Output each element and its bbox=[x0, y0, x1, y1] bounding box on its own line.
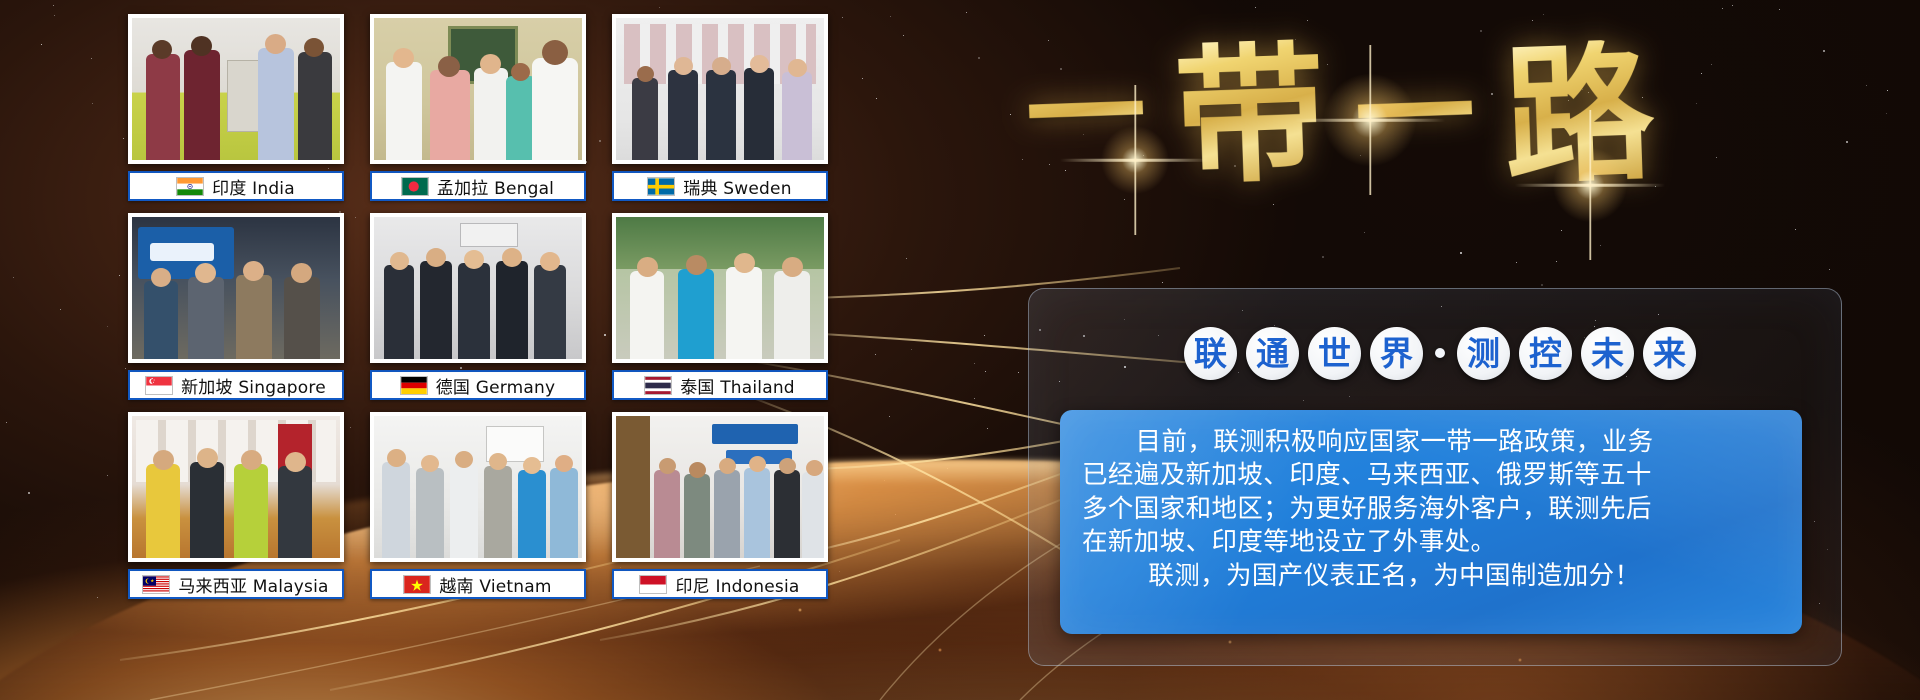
country-photo[interactable] bbox=[128, 213, 344, 363]
country-photo-gallery: 印度 India 孟加拉 Bengal 瑞典 Sweden 新加坡 Singap… bbox=[128, 14, 828, 611]
country-label: 印尼 Indonesia bbox=[675, 572, 799, 597]
country-photo[interactable] bbox=[370, 14, 586, 164]
photo-scene bbox=[616, 18, 824, 160]
flag-indonesia bbox=[640, 576, 666, 593]
country-label: 越南 Vietnam bbox=[439, 572, 551, 597]
calligraphy-char-3: 一 bbox=[1353, 53, 1477, 177]
flag-thailand bbox=[645, 377, 671, 394]
calligraphy-char-4: 路 bbox=[1501, 38, 1656, 193]
country-label: 新加坡 Singapore bbox=[181, 373, 326, 398]
country-photo[interactable] bbox=[128, 412, 344, 562]
slogan-char-badge: 测 bbox=[1457, 327, 1510, 380]
photo-scene bbox=[374, 18, 582, 160]
calligraphy-char-2: 带 bbox=[1173, 38, 1328, 193]
slogan-badges: 联通世界测控未来 bbox=[1140, 322, 1740, 384]
slogan-char-badge: 世 bbox=[1308, 327, 1361, 380]
flag-india bbox=[177, 178, 203, 195]
country-label: 孟加拉 Bengal bbox=[437, 174, 554, 199]
photo-scene bbox=[132, 217, 340, 359]
calligraphy-title: 一 带 一 路 bbox=[1020, 18, 1660, 213]
country-caption[interactable]: 泰国 Thailand bbox=[612, 370, 828, 400]
flag-bangladesh bbox=[402, 178, 428, 195]
slogan-char-badge: 未 bbox=[1581, 327, 1634, 380]
flag-malaysia bbox=[143, 576, 169, 593]
photo-scene bbox=[374, 217, 582, 359]
slogan-char-badge: 通 bbox=[1246, 327, 1299, 380]
flag-sweden bbox=[648, 178, 674, 195]
country-photo[interactable] bbox=[612, 14, 828, 164]
description-line: 联测，为国产仪表正名，为中国制造加分！ bbox=[1082, 560, 1780, 593]
flag-singapore bbox=[146, 377, 172, 394]
flag-vietnam bbox=[404, 576, 430, 593]
slogan-char-badge: 界 bbox=[1370, 327, 1423, 380]
photo-scene bbox=[132, 18, 340, 160]
slogan-separator-dot bbox=[1435, 348, 1445, 358]
country-card[interactable]: 印度 India bbox=[128, 14, 344, 201]
country-card[interactable]: 泰国 Thailand bbox=[612, 213, 828, 400]
country-card[interactable]: 孟加拉 Bengal bbox=[370, 14, 586, 201]
country-caption[interactable]: 印尼 Indonesia bbox=[612, 569, 828, 599]
country-caption[interactable]: 马来西亚 Malaysia bbox=[128, 569, 344, 599]
slogan-char-badge: 联 bbox=[1184, 327, 1237, 380]
country-caption[interactable]: 印度 India bbox=[128, 171, 344, 201]
country-photo[interactable] bbox=[612, 213, 828, 363]
country-card[interactable]: 瑞典 Sweden bbox=[612, 14, 828, 201]
country-card[interactable]: 德国 Germany bbox=[370, 213, 586, 400]
banner-stage: 一 带 一 路 印度 India 孟加拉 Bengal 瑞典 bbox=[0, 0, 1920, 700]
country-label: 泰国 Thailand bbox=[680, 373, 795, 398]
gallery-row: 马来西亚 Malaysia 越南 Vietnam 印尼 Indonesia bbox=[128, 412, 828, 599]
slogan-char-badge: 控 bbox=[1519, 327, 1572, 380]
country-card[interactable]: 印尼 Indonesia bbox=[612, 412, 828, 599]
country-caption[interactable]: 瑞典 Sweden bbox=[612, 171, 828, 201]
description-line: 已经遍及新加坡、印度、马来西亚、俄罗斯等五十 bbox=[1082, 459, 1780, 492]
country-label: 德国 Germany bbox=[436, 373, 556, 398]
gallery-row: 印度 India 孟加拉 Bengal 瑞典 Sweden bbox=[128, 14, 828, 201]
description-line: 在新加坡、印度等地设立了外事处。 bbox=[1082, 526, 1780, 559]
country-label: 瑞典 Sweden bbox=[683, 174, 791, 199]
gallery-row: 新加坡 Singapore 德国 Germany 泰国 Thailand bbox=[128, 213, 828, 400]
country-caption[interactable]: 孟加拉 Bengal bbox=[370, 171, 586, 201]
country-card[interactable]: 越南 Vietnam bbox=[370, 412, 586, 599]
flag-germany bbox=[401, 377, 427, 394]
country-photo[interactable] bbox=[612, 412, 828, 562]
photo-scene bbox=[616, 416, 824, 558]
description-line: 多个国家和地区；为更好服务海外客户，联测先后 bbox=[1082, 493, 1780, 526]
country-photo[interactable] bbox=[370, 412, 586, 562]
country-caption[interactable]: 德国 Germany bbox=[370, 370, 586, 400]
country-label: 马来西亚 Malaysia bbox=[178, 572, 328, 597]
photo-scene bbox=[374, 416, 582, 558]
country-card[interactable]: 新加坡 Singapore bbox=[128, 213, 344, 400]
photo-scene bbox=[132, 416, 340, 558]
description-box: 目前，联测积极响应国家一带一路政策，业务已经遍及新加坡、印度、马来西亚、俄罗斯等… bbox=[1060, 410, 1802, 634]
country-label: 印度 India bbox=[212, 174, 295, 199]
country-card[interactable]: 马来西亚 Malaysia bbox=[128, 412, 344, 599]
photo-scene bbox=[616, 217, 824, 359]
country-photo[interactable] bbox=[370, 213, 586, 363]
calligraphy-char-1: 一 bbox=[1024, 53, 1148, 177]
country-caption[interactable]: 新加坡 Singapore bbox=[128, 370, 344, 400]
description-line: 目前，联测积极响应国家一带一路政策，业务 bbox=[1082, 426, 1780, 459]
country-caption[interactable]: 越南 Vietnam bbox=[370, 569, 586, 599]
country-photo[interactable] bbox=[128, 14, 344, 164]
slogan-char-badge: 来 bbox=[1643, 327, 1696, 380]
